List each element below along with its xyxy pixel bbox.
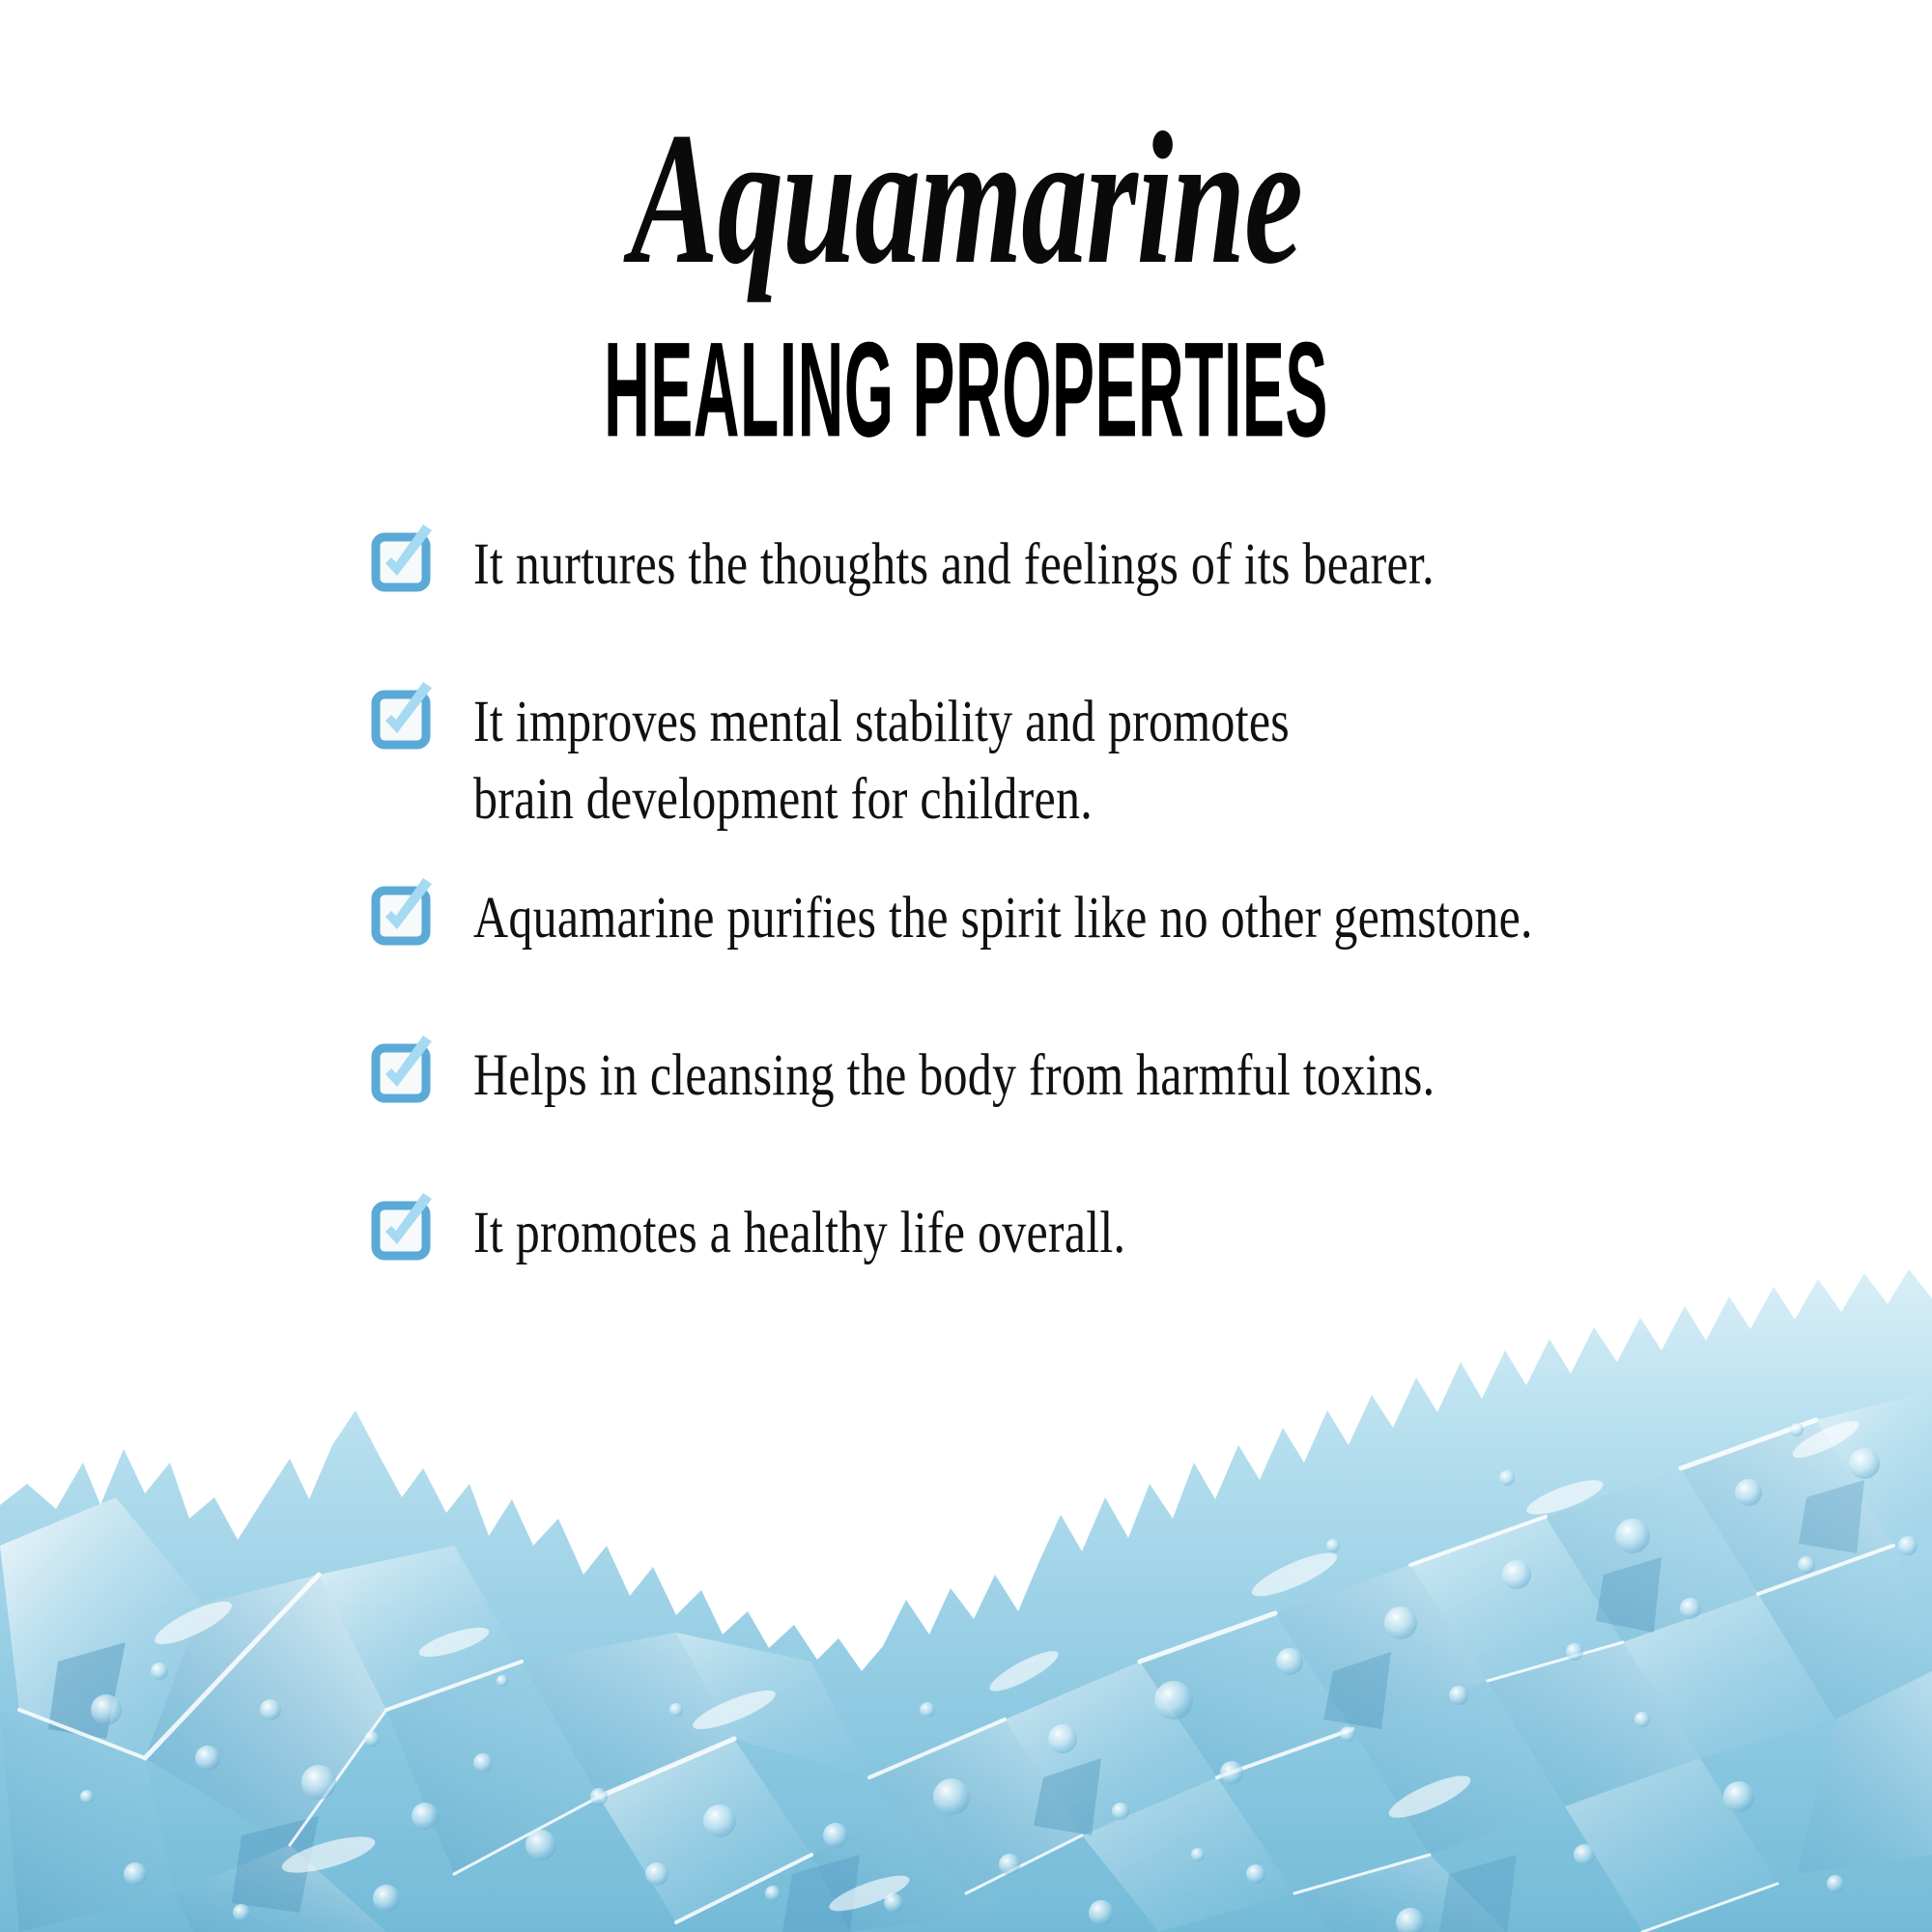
list-item-text: It improves mental stability and promote… <box>473 684 1290 838</box>
list-item-line: It nurtures the thoughts and feelings of… <box>473 532 1435 597</box>
healing-properties-list: It nurtures the thoughts and feelings of… <box>373 526 1803 1272</box>
list-item: Aquamarine purifies the spirit like no o… <box>373 880 1803 956</box>
page-title: Aquamarine <box>290 0 1642 294</box>
list-item-text: Aquamarine purifies the spirit like no o… <box>473 880 1533 956</box>
poster-root: Aquamarine HEALING PROPERTIES It nurture… <box>0 0 1932 1932</box>
list-item: It improves mental stability and promote… <box>373 684 1803 838</box>
list-item-line: Aquamarine purifies the spirit like no o… <box>473 886 1533 951</box>
list-item-text: Helps in cleansing the body from harmful… <box>473 1037 1435 1114</box>
checked-checkbox-icon <box>373 532 433 592</box>
list-item: It nurtures the thoughts and feelings of… <box>373 526 1803 603</box>
list-item: Helps in cleansing the body from harmful… <box>373 1037 1803 1114</box>
list-item: It promotes a healthy life overall. <box>373 1195 1803 1271</box>
checked-checkbox-icon <box>373 886 433 946</box>
list-item-line: Helps in cleansing the body from harmful… <box>473 1043 1435 1108</box>
header: Aquamarine HEALING PROPERTIES <box>0 0 1932 448</box>
crushed-ice-photo <box>0 1256 1932 1932</box>
checked-checkbox-icon <box>373 1201 433 1261</box>
list-item-text: It nurtures the thoughts and feelings of… <box>473 526 1435 603</box>
checked-checkbox-icon <box>373 1043 433 1103</box>
list-item-line: brain development for children. <box>473 761 1290 838</box>
list-item-text: It promotes a healthy life overall. <box>473 1195 1125 1271</box>
list-item-line: It improves mental stability and promote… <box>473 690 1290 754</box>
page-subtitle: HEALING PROPERTIES <box>483 294 1449 458</box>
checked-checkbox-icon <box>373 690 433 750</box>
list-item-line: It promotes a healthy life overall. <box>473 1201 1125 1265</box>
